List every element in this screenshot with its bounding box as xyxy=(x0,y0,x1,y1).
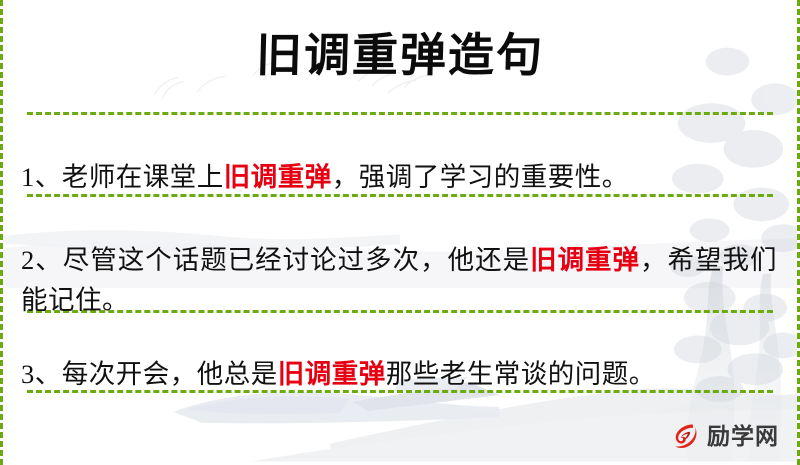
sentence-1-after: ，强调了学习的重要性。 xyxy=(332,162,629,192)
sentence-item-2: 2、尽管这个话题已经讨论过多次，他还是旧调重弹，希望我们能记住。 xyxy=(21,240,777,320)
page-root: 旧调重弹造句 1、老师在课堂上旧调重弹，强调了学习的重要性。 2、尽管这个话题已… xyxy=(0,0,800,465)
sentence-2-index: 2、 xyxy=(21,245,63,275)
site-logo[interactable]: 励学网 xyxy=(667,419,779,453)
sentence-3-keyword: 旧调重弹 xyxy=(278,359,386,389)
divider-top xyxy=(27,112,773,115)
sentence-item-3: 3、每次开会，他总是旧调重弹那些老生常谈的问题。 xyxy=(21,354,777,394)
logo-text: 励学网 xyxy=(707,425,779,448)
sentence-1-before: 老师在课堂上 xyxy=(62,162,224,192)
sentence-2-keyword: 旧调重弹 xyxy=(530,245,640,275)
page-title: 旧调重弹造句 xyxy=(255,33,544,79)
sentence-item-1: 1、老师在课堂上旧调重弹，强调了学习的重要性。 xyxy=(21,157,777,197)
title-bar: 旧调重弹造句 xyxy=(3,0,797,112)
sentence-2-before: 尽管这个话题已经讨论过多次，他还是 xyxy=(63,245,530,275)
sentence-3-after: 那些老生常谈的问题。 xyxy=(386,359,656,389)
sentence-3-before: 每次开会，他总是 xyxy=(62,359,278,389)
red-swirl-flame-icon xyxy=(667,419,701,453)
sentence-3-index: 3、 xyxy=(21,359,62,389)
sentence-1-index: 1、 xyxy=(21,162,62,192)
sentence-1-keyword: 旧调重弹 xyxy=(224,162,332,192)
